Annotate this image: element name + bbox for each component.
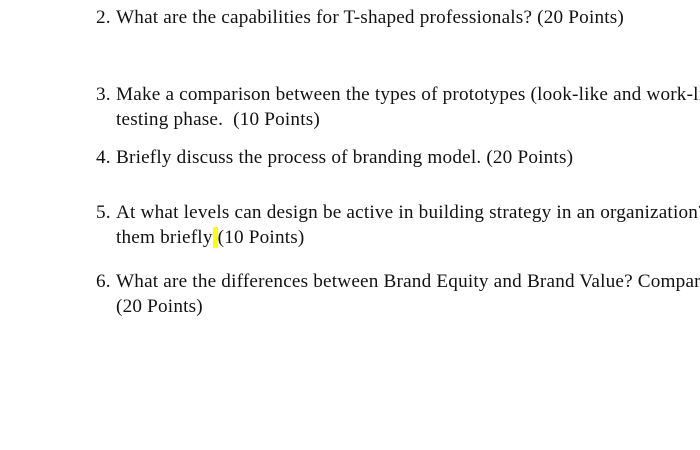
question-item-5: 5. At what levels can design be active i… [0, 201, 700, 250]
question-text-5-before-highlight: At what levels can design be active in b… [116, 202, 700, 248]
question-text-5: At what levels can design be active in b… [116, 201, 700, 250]
question-item-6: 6. What are the differences between Bran… [0, 270, 700, 319]
question-item-2: 2. What are the capabilities for T-shape… [0, 6, 700, 31]
question-item-3: 3. Make a comparison between the types o… [0, 83, 700, 132]
question-text-3: Make a comparison between the types of p… [116, 83, 700, 132]
question-text-5-after-highlight: (10 Points) [218, 227, 305, 248]
question-text-2: What are the capabilities for T-shaped p… [116, 6, 700, 31]
question-text-6: What are the differences between Brand E… [116, 270, 700, 319]
document-page: 2. What are the capabilities for T-shape… [0, 0, 700, 450]
question-item-4: 4. Briefly discuss the process of brandi… [0, 146, 700, 171]
question-text-4: Briefly discuss the process of branding … [116, 146, 700, 171]
